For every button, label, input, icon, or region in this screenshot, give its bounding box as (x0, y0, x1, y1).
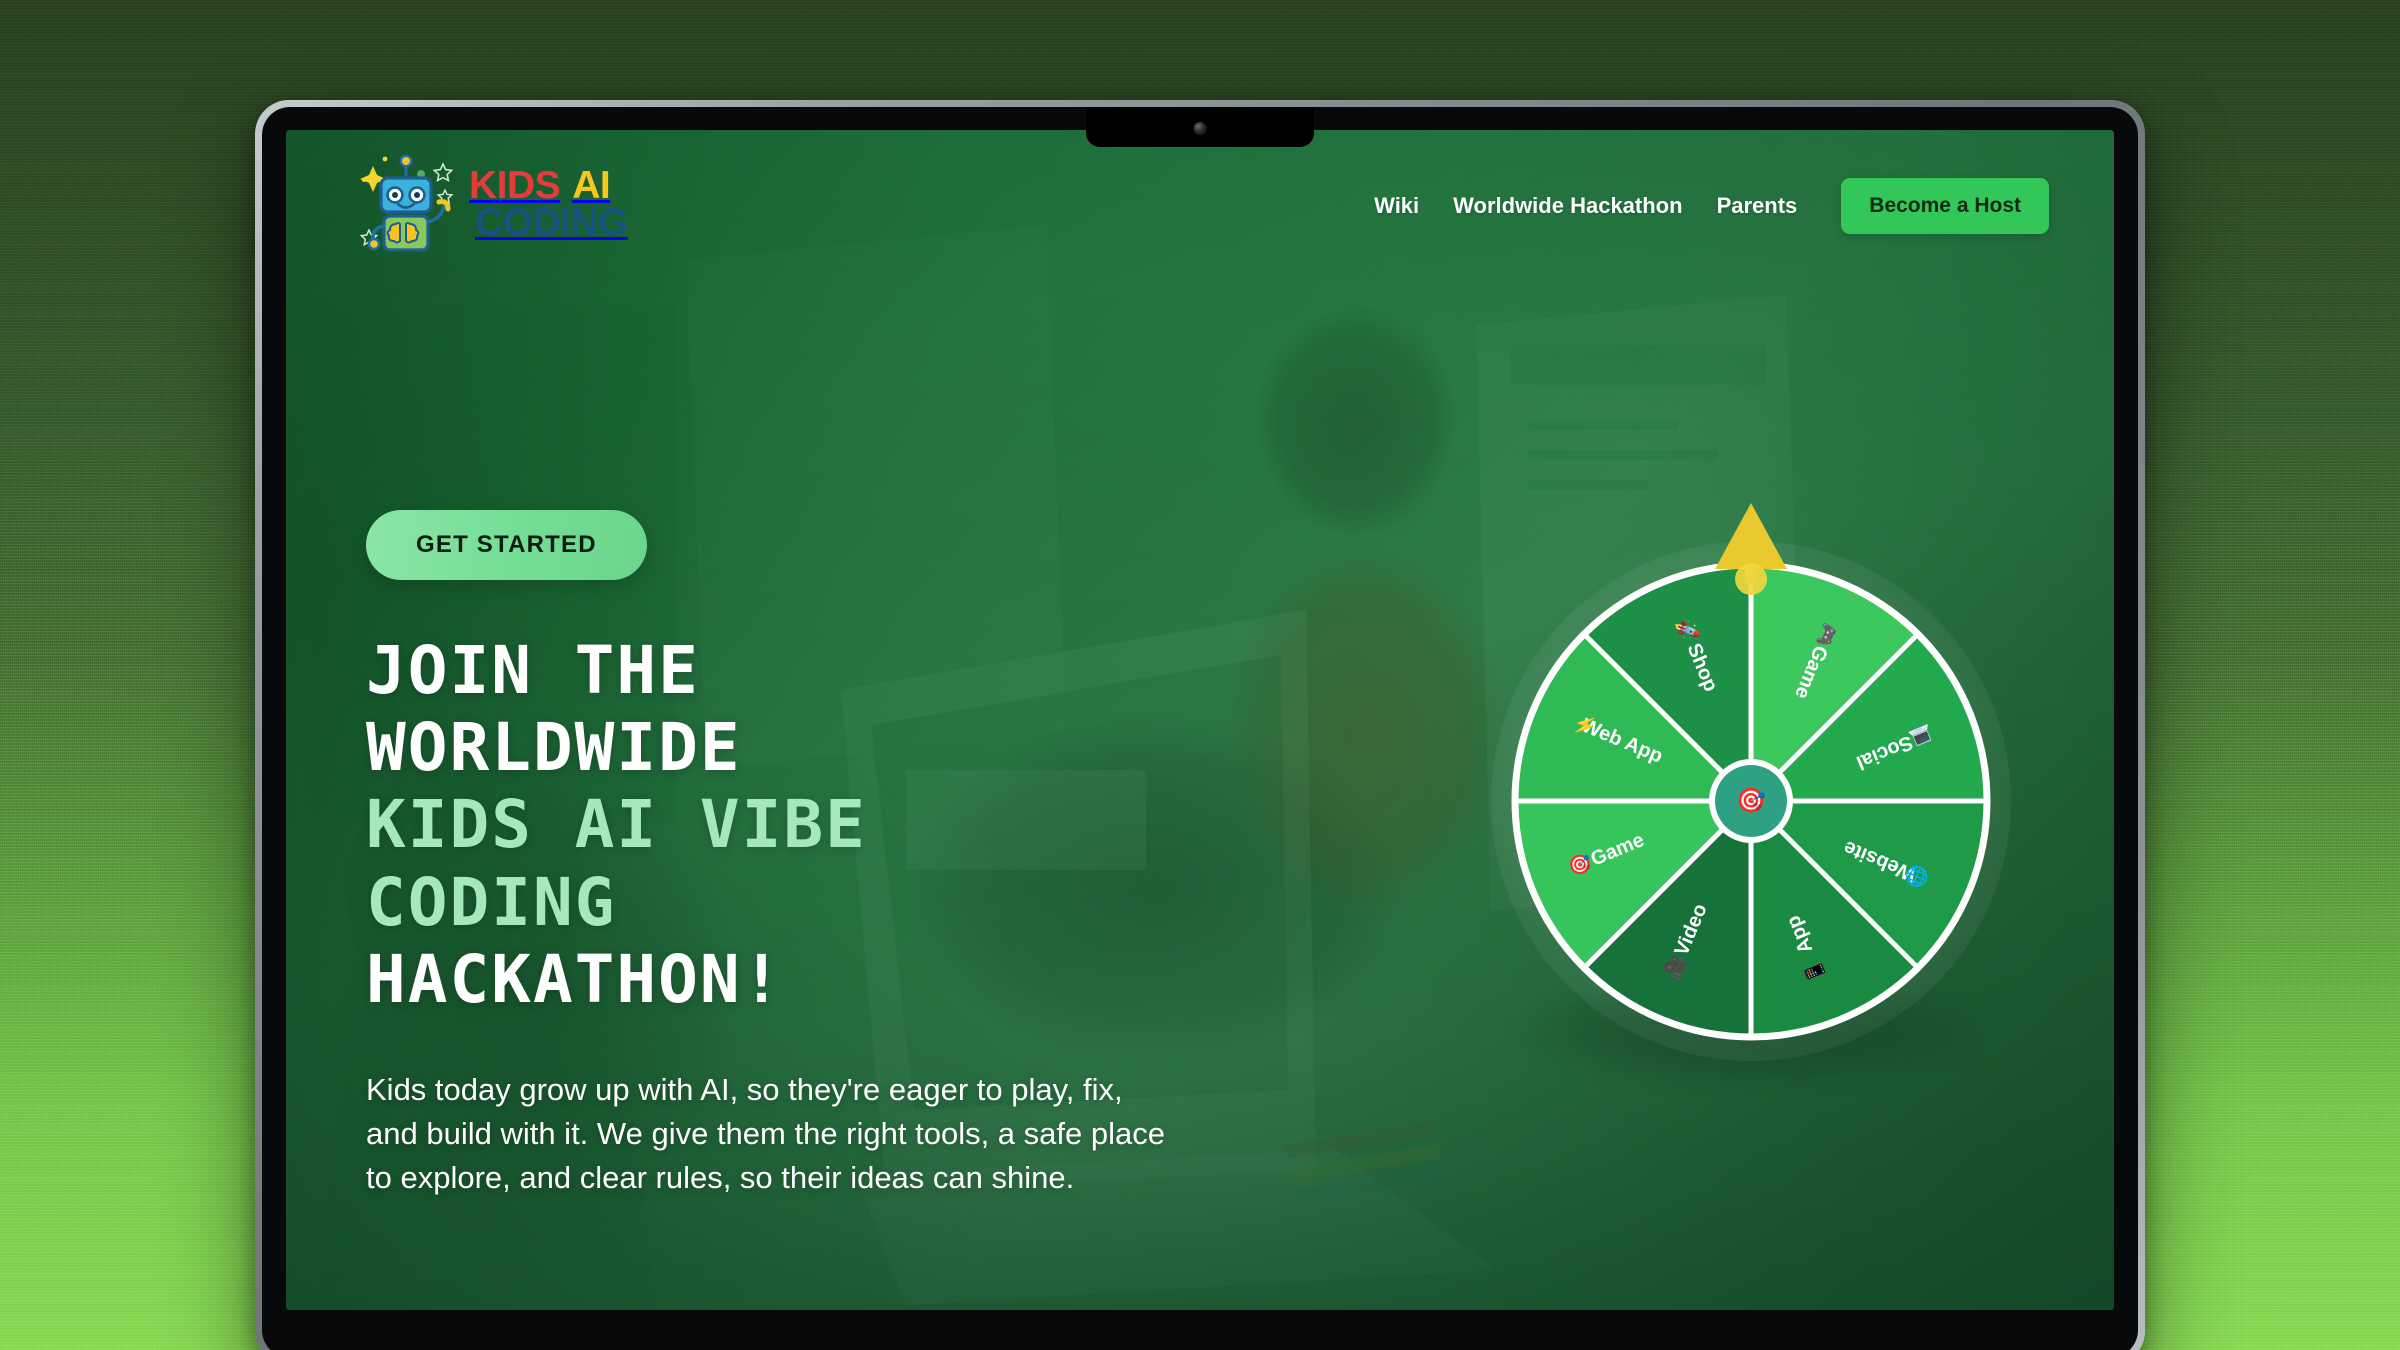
become-a-host-button[interactable]: Become a Host (1841, 178, 2049, 234)
browser-viewport: KIDS AI CODING Wiki Worldwide Hackathon … (286, 130, 2114, 1310)
brand-logo-wordmark: KIDS AI CODING (469, 167, 628, 242)
headline-line-3: KIDS AI VIBE (366, 786, 1266, 863)
hero-content: GET STARTED JOIN THE WORLDWIDE KIDS AI V… (366, 510, 1266, 1200)
hero-description: Kids today grow up with AI, so they're e… (366, 1068, 1166, 1200)
get-started-button[interactable]: GET STARTED (366, 510, 647, 580)
headline-line-1: JOIN THE (366, 632, 1266, 709)
triangle-pointer-icon (1699, 497, 1803, 601)
headline-line-2: WORLDWIDE (366, 709, 1266, 786)
page-title: JOIN THE WORLDWIDE KIDS AI VIBE CODING H… (366, 632, 1266, 1018)
spin-wheel[interactable]: Game🎮Social💻Website🌐App📱Video🎥Game🎯Web A… (1471, 475, 2031, 1095)
headline-line-5: HACKATHON! (366, 941, 1266, 1018)
dart-target-icon: 🎯 (1736, 788, 1766, 815)
webcam-icon (1194, 122, 1207, 135)
logo-word-coding: CODING (475, 204, 628, 241)
main-navigation: Wiki Worldwide Hackathon Parents Become … (1374, 178, 2049, 234)
headline-line-4: CODING (366, 864, 1266, 941)
logo-word-ai: AI (572, 167, 610, 204)
laptop-frame: KIDS AI CODING Wiki Worldwide Hackathon … (255, 100, 2145, 1350)
brand-logo[interactable]: KIDS AI CODING (355, 152, 628, 256)
nav-link-wiki[interactable]: Wiki (1374, 193, 1419, 219)
nav-link-parents[interactable]: Parents (1717, 193, 1798, 219)
site-header: KIDS AI CODING Wiki Worldwide Hackathon … (286, 130, 2114, 280)
nav-link-worldwide-hackathon[interactable]: Worldwide Hackathon (1453, 193, 1682, 219)
page-backdrop: KIDS AI CODING Wiki Worldwide Hackathon … (0, 0, 2400, 1350)
robot-mascot-icon (355, 152, 459, 256)
logo-word-kids: KIDS (469, 167, 560, 204)
wheel-svg[interactable]: Game🎮Social💻Website🌐App📱Video🎥Game🎯Web A… (1511, 561, 1991, 1041)
